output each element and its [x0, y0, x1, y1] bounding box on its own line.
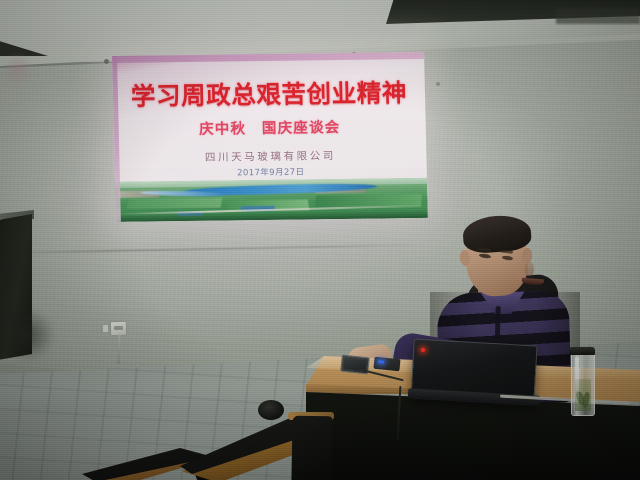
wall-stain [4, 52, 32, 88]
wall-switch [102, 324, 109, 333]
laptop-power-led [421, 348, 425, 352]
photo-scene: A man in a striped polo shirt sits at a … [0, 0, 640, 480]
slide-body: 学习周政总艰苦创业精神 庆中秋 国庆座谈会 四川天马玻璃有限公司 2017年9月… [112, 52, 427, 182]
blue-led-indicator [378, 360, 384, 364]
slide-aerial-photo [115, 178, 428, 222]
projected-slide: 学习周政总艰苦创业精神 庆中秋 国庆座谈会 四川天马玻璃有限公司 2017年9月… [112, 52, 428, 222]
cabinet-shadow [16, 308, 56, 362]
outlet-slot [114, 326, 123, 330]
ceiling-vent-right-shadow [556, 8, 640, 24]
slide-company-name: 四川天马玻璃有限公司 [114, 147, 426, 166]
slide-subtitle: 庆中秋 国庆座谈会 [113, 115, 425, 140]
mouth [522, 278, 544, 286]
tea-glass [571, 352, 595, 416]
foreground-chair-back [291, 416, 332, 480]
small-device [373, 357, 400, 372]
shirt-placket [495, 306, 501, 338]
glass-highlight [575, 357, 579, 403]
wall-mark [104, 59, 109, 64]
chair-caster [258, 400, 284, 420]
tea-glass-lid [569, 347, 595, 355]
slide-title: 学习周政总艰苦创业精神 [113, 74, 426, 113]
photo-field [127, 198, 222, 209]
wall-mark [436, 82, 440, 86]
